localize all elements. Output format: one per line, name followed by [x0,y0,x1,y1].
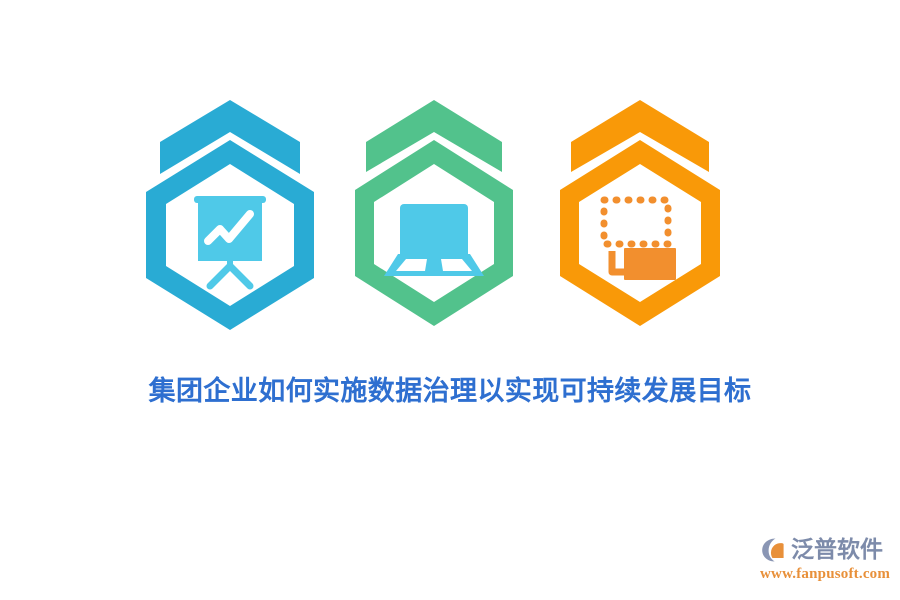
poster-canvas: 集团企业如何实施数据治理以实现可持续发展目标 泛普软件 www.fanpusof… [0,0,900,600]
dashed-rectangle-copy-icon [604,200,676,280]
logo-website-url: www.fanpusoft.com [760,566,886,583]
fanpu-swoosh-icon [760,535,790,565]
page-title: 集团企业如何实施数据治理以实现可持续发展目标 [0,372,900,412]
presentation-chart-icon [194,196,266,286]
badge-duplicate[interactable] [550,96,730,336]
badge-row [0,96,900,336]
badge-analytics[interactable] [140,96,320,336]
hexagon-frame [560,140,720,326]
laptop-icon [384,204,484,276]
logo-company-name: 泛普软件 [791,535,883,565]
logo-top-row: 泛普软件 [760,534,886,566]
badge-laptop[interactable] [344,96,524,336]
brand-logo[interactable]: 泛普软件 www.fanpusoft.com [760,534,886,586]
